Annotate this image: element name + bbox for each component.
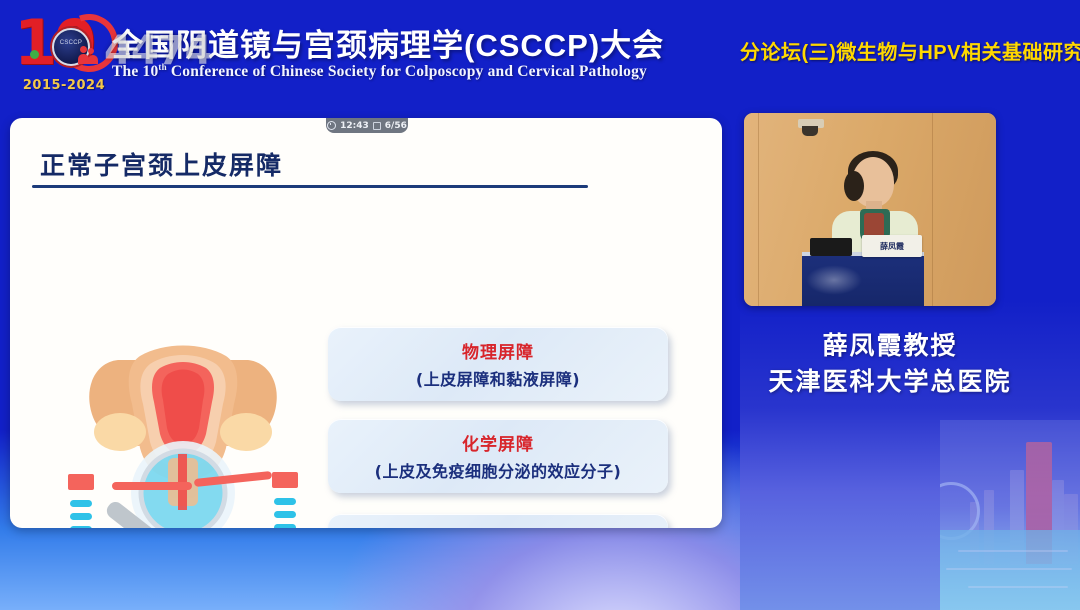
page-icon — [373, 122, 381, 130]
conference-header: 10 CSCCP 2015-2024 全国阴道镜与宫颈病理学(CSCCP)大会 … — [0, 0, 1080, 104]
clock-icon — [327, 121, 336, 130]
playback-status-badge: 12:43 6/56 — [326, 118, 408, 133]
slide-title-underline — [32, 185, 588, 188]
title-en-rest: Conference of Chinese Society for Colpos… — [167, 63, 647, 80]
slide-panel[interactable]: 正常子宫颈上皮屏障 — [10, 118, 722, 528]
barrier-box-chemical: 化学屏障 (上皮及免疫细胞分泌的效应分子) — [328, 419, 668, 493]
speaker-nameplate: 薛凤霞 — [862, 235, 922, 257]
speaker-organization: 天津医科大学总医院 — [744, 362, 1036, 398]
barrier-heading: 物理屏障 — [462, 338, 534, 363]
barrier-subtext: (上皮及免疫细胞分泌的效应分子) — [375, 458, 622, 482]
barrier-box-immune: 免疫屏障 (体液免疫和细胞免疫) — [328, 514, 668, 528]
water-reflection — [958, 550, 1068, 552]
city-skyline-watermark — [940, 420, 1080, 610]
barrier-box-physical: 物理屏障 (上皮屏障和黏液屏障) — [328, 327, 668, 401]
podium-monitor — [810, 238, 852, 256]
barrier-subtext: (上皮屏障和黏液屏障) — [416, 366, 580, 390]
barrier-heading: 免疫屏障 — [462, 525, 534, 528]
speaker-hair-back — [844, 171, 864, 201]
logo-years: 2015-2024 — [12, 78, 116, 93]
uterus-magnifier-illustration — [68, 330, 298, 528]
podium-light-reflection — [806, 265, 862, 295]
speaker-name: 薛凤霞教授 — [744, 326, 1036, 362]
wall-seam — [758, 113, 759, 306]
slide-title: 正常子宫颈上皮屏障 — [40, 146, 283, 182]
people-icon — [78, 46, 102, 66]
water-reflection — [946, 568, 1072, 570]
skyline-water — [940, 530, 1080, 610]
ceiling-camera-icon — [802, 126, 818, 136]
elapsed-time: 12:43 — [340, 121, 369, 131]
screen: 10 CSCCP 2015-2024 全国阴道镜与宫颈病理学(CSCCP)大会 … — [0, 0, 1080, 610]
logo-green-dot-icon — [30, 50, 39, 59]
speaker-video-feed[interactable]: 薛凤霞 — [744, 113, 996, 306]
stream-watermark: 4474 — [104, 28, 211, 74]
barrier-heading: 化学屏障 — [462, 430, 534, 455]
water-reflection — [968, 586, 1068, 588]
page-counter: 6/56 — [385, 121, 407, 131]
wall-seam — [932, 113, 933, 306]
session-title: 分论坛(三)微生物与HPV相关基础研究 — [740, 36, 1076, 65]
